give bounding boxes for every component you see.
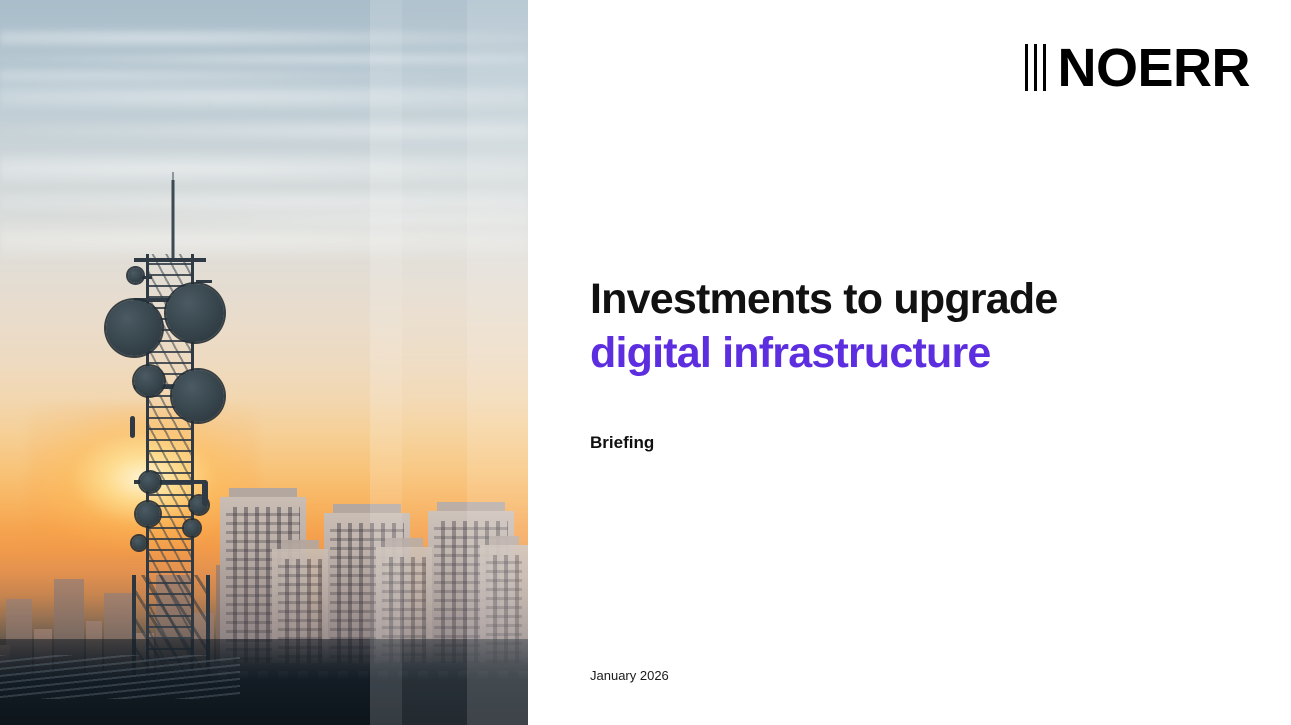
logo-bars-icon xyxy=(1025,44,1046,91)
cover-slide: NOERR Investments to upgrade digital inf… xyxy=(0,0,1291,725)
cloud-streaks xyxy=(0,0,528,421)
content-pane: NOERR Investments to upgrade digital inf… xyxy=(528,0,1291,725)
document-type-label: Briefing xyxy=(590,433,654,453)
publication-date: January 2026 xyxy=(590,668,669,683)
page-title: Investments to upgrade digital infrastru… xyxy=(590,272,1230,380)
logo-wordmark: NOERR xyxy=(1057,45,1250,92)
foreground-railyard xyxy=(0,639,528,725)
hero-image xyxy=(0,0,528,725)
page-title-line-2: digital infrastructure xyxy=(590,326,1230,380)
page-title-line-1: Investments to upgrade xyxy=(590,275,1057,323)
noerr-logo[interactable]: NOERR xyxy=(1025,38,1250,92)
